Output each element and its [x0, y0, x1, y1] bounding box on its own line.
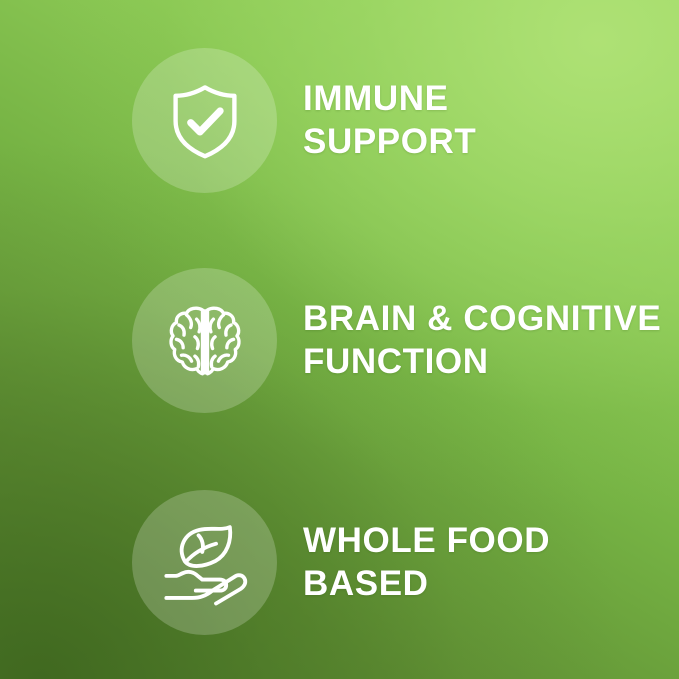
icon-badge-brain-cognitive	[132, 268, 277, 413]
feature-list: Immune Support	[0, 0, 679, 679]
feature-label: Immune Support	[303, 78, 476, 163]
icon-badge-immune-support	[132, 48, 277, 193]
shield-check-icon	[163, 79, 247, 163]
feature-row: Whole Food Based	[0, 490, 679, 635]
icon-badge-whole-food-based	[132, 490, 277, 635]
feature-label: Whole Food Based	[303, 520, 550, 605]
feature-row: Immune Support	[0, 48, 679, 193]
benefits-infographic: Immune Support	[0, 0, 679, 679]
feature-row: Brain & Cognitive Function	[0, 268, 679, 413]
feature-label: Brain & Cognitive Function	[303, 298, 661, 383]
brain-icon	[163, 299, 247, 383]
leaf-in-hand-icon	[159, 517, 251, 609]
